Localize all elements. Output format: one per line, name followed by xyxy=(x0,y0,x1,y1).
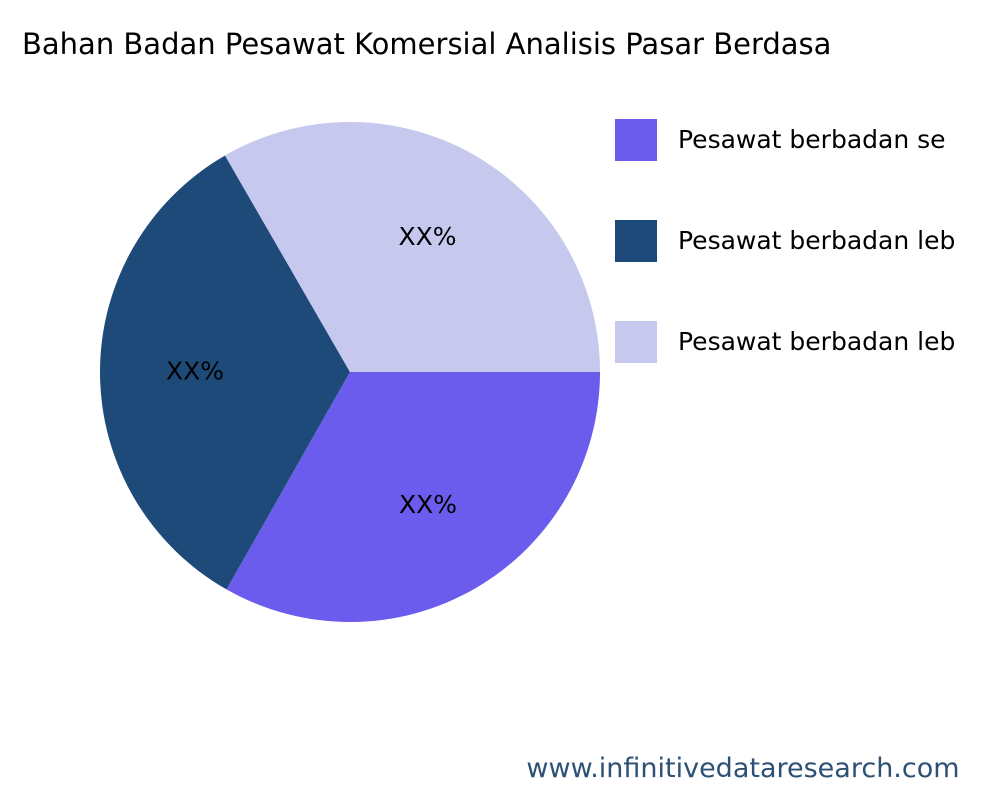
footer-url-text: www.infinitivedataresearch.com xyxy=(526,752,959,786)
legend-item-wide-body[interactable]: Pesawat berbadan leb xyxy=(615,213,1000,314)
legend-item-narrow-body[interactable]: Pesawat berbadan se xyxy=(615,112,1000,213)
legend-swatch-very-wide-body xyxy=(615,321,657,363)
pie-slice-label-very-wide-body: XX% xyxy=(398,222,456,251)
pie-chart: XX% XX% XX% xyxy=(100,122,600,622)
pie-slice-label-narrow-body: XX% xyxy=(399,490,457,519)
legend-label-wide-body: Pesawat berbadan leb xyxy=(678,220,955,262)
chart-figure: Bahan Badan Pesawat Komersial Analisis P… xyxy=(0,0,1000,800)
legend-swatch-narrow-body xyxy=(615,119,657,161)
footer-url[interactable]: www.infinitivedataresearch.com xyxy=(0,752,1000,786)
chart-title: Bahan Badan Pesawat Komersial Analisis P… xyxy=(22,26,831,62)
legend-label-narrow-body: Pesawat berbadan se xyxy=(678,119,946,161)
legend-swatch-wide-body xyxy=(615,220,657,262)
pie-chart-svg: XX% XX% XX% xyxy=(100,122,600,622)
legend-label-very-wide-body: Pesawat berbadan leb xyxy=(678,321,955,363)
chart-legend: Pesawat berbadan se Pesawat berbadan leb… xyxy=(615,112,1000,415)
legend-item-very-wide-body[interactable]: Pesawat berbadan leb xyxy=(615,314,1000,415)
pie-slice-label-wide-body: XX% xyxy=(166,357,224,386)
